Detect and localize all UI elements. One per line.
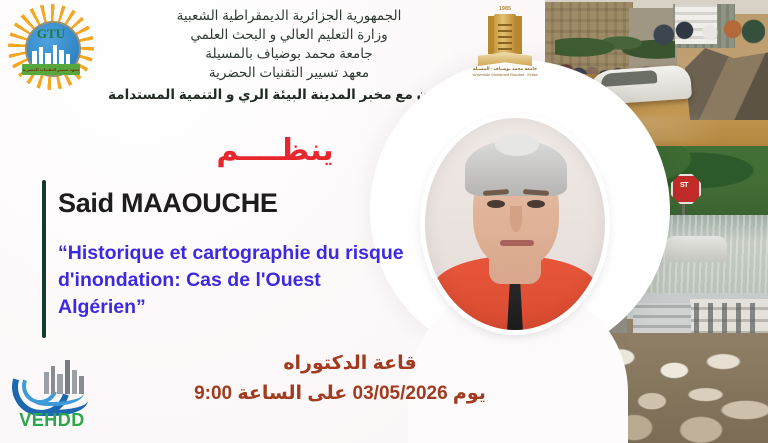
stop-sign-icon xyxy=(671,174,701,204)
submerged-car-3 xyxy=(665,236,727,262)
organizes-heading: ينظــــم xyxy=(150,133,400,168)
header-line-university: جامعة محمد بوضياف بالمسيلة xyxy=(104,44,474,63)
open-book-icon xyxy=(478,52,532,66)
vehdd-logo: VEHDD xyxy=(8,352,96,436)
university-founding-year: 1985 xyxy=(462,6,548,12)
university-caption-french: Université Mohamed Boudiaf - M'sila xyxy=(462,72,548,77)
gtu-logo: GTU معهد تسيير التقنيات الحضرية xyxy=(8,4,94,90)
stop-sign-label: ST xyxy=(671,182,697,189)
gtu-acronym: GTU xyxy=(25,26,77,42)
talk-title: “Historique et cartographie du risque d'… xyxy=(58,240,408,321)
header-line-country: الجمهورية الجزائرية الديمقراطية الشعبية xyxy=(104,6,474,25)
portrait-vignette xyxy=(425,118,605,330)
city-skyline-icon xyxy=(32,45,70,65)
debris-pile xyxy=(685,48,768,120)
gtu-banner: معهد تسيير التقنيات الحضرية xyxy=(22,64,80,75)
speaker-name: Said MAAOUCHE xyxy=(58,188,398,219)
datetime-label: يوم 03/05/2026 على الساعة 9:00 xyxy=(130,382,550,405)
university-pillar-right xyxy=(515,16,522,54)
wave-icon xyxy=(10,354,88,408)
conference-poster: ST ا xyxy=(0,0,768,443)
university-tower-slots xyxy=(498,20,512,50)
venue-label: قاعة الدكتوراه xyxy=(150,352,550,375)
accent-bar xyxy=(42,180,46,338)
speaker-portrait xyxy=(425,118,605,330)
vehdd-acronym: VEHDD xyxy=(8,410,96,431)
institutional-header: الجمهورية الجزائرية الديمقراطية الشعبية … xyxy=(104,6,474,104)
university-logo: 1985 جامعة محمد بوضياف - المسيلة Univers… xyxy=(462,4,548,78)
header-line-ministry: وزارة التعليم العالي و البحث العلمي xyxy=(104,25,474,44)
header-line-institute: معهد تسيير التقنيات الحضرية xyxy=(104,63,474,82)
gtu-banner-text: معهد تسيير التقنيات الحضرية xyxy=(22,64,80,75)
